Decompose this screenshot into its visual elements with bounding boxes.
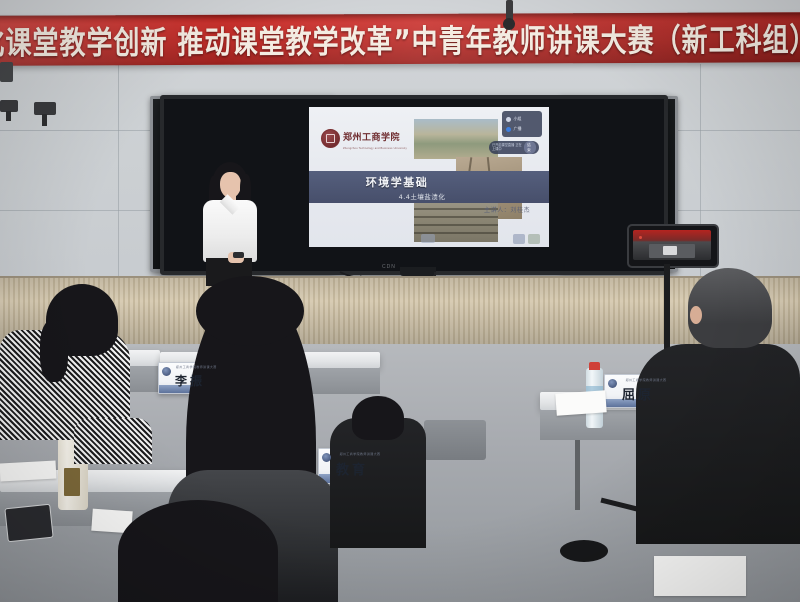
- slide-subtitle: 4.4土壤盐渍化: [367, 191, 477, 201]
- audience-hair: [118, 500, 278, 602]
- presenter-label: 主讲人：: [484, 207, 510, 214]
- bottle-cap: [589, 362, 600, 370]
- broadcast-label: 广播: [514, 126, 522, 132]
- school-seal-icon: [321, 129, 340, 148]
- audience-patterned-shoulder: [74, 418, 152, 464]
- school-name-en: Zhengzhou Technology and Business Univer…: [343, 147, 407, 150]
- group-icon: [506, 117, 511, 122]
- tumbler-label: [64, 468, 80, 496]
- audience-hair: [352, 396, 404, 440]
- wall-seam: [118, 64, 119, 276]
- paper-sheet: [0, 461, 56, 482]
- presenter-clicker: [233, 252, 244, 258]
- plate-name: 李振: [175, 372, 205, 389]
- tripod-foot: [560, 540, 608, 562]
- tripod-smartphone[interactable]: [627, 224, 719, 268]
- school-name-cn: 郑州工商学院: [343, 133, 400, 143]
- camera-mount: [6, 111, 11, 121]
- group-label: 小组: [514, 116, 522, 122]
- presenter-name: 刘桂杰: [510, 207, 530, 214]
- paper-stack: [555, 390, 606, 415]
- banner-hook-weight: [503, 18, 515, 30]
- phone-screen: [633, 230, 711, 260]
- banner-text: “深化课堂教学创新 推动课堂教学改革”中青年教师讲课大赛（新工科组）复赛: [0, 14, 800, 63]
- plate-seal-icon: [162, 367, 171, 376]
- slide-tool-exit[interactable]: [528, 234, 540, 244]
- chair[interactable]: [424, 420, 486, 460]
- smartphone-on-desk[interactable]: [4, 504, 53, 543]
- judge-jacket: [636, 344, 800, 544]
- classroom-photo: “深化课堂教学创新 推动课堂教学改革”中青年教师讲课大赛（新工科组）复赛 郑州工…: [0, 0, 800, 602]
- slide-presenter: 主讲人：刘桂杰: [484, 205, 530, 214]
- plate-heading: 郑州工商学院教师讲课大赛: [340, 452, 381, 456]
- live-status-text: 已开启课堂直播 正在上课中: [492, 144, 524, 151]
- judge-ear: [690, 306, 702, 324]
- slide-tool-zoom[interactable]: [513, 234, 525, 244]
- plate-heading: 郑州工商学院教师讲课大赛: [626, 378, 667, 382]
- paper-stack: [654, 556, 746, 596]
- slide-tool-pen[interactable]: [421, 234, 435, 243]
- wall-speaker-box: [0, 62, 13, 82]
- judge-hair: [688, 268, 772, 348]
- broadcast-icon: [506, 127, 511, 132]
- school-logo: 郑州工商学院 Zhengzhou Technology and Business…: [321, 127, 407, 150]
- conference-panel[interactable]: 小组 广播: [502, 111, 542, 137]
- slide-photo-saline-field: [414, 119, 498, 159]
- plate-seal-icon: [608, 379, 617, 388]
- camera-mount: [42, 114, 47, 126]
- slide-title: 环境学基础: [337, 174, 457, 190]
- audience-hair-fall: [40, 320, 68, 382]
- record-indicator-icon: [639, 236, 642, 239]
- live-status-pill[interactable]: 已开启课堂直播 正在上课中 结束: [489, 141, 539, 154]
- plate-name: 屈原: [622, 384, 654, 403]
- plate-name: 教育: [336, 459, 368, 478]
- end-broadcast-button[interactable]: 结束: [524, 141, 536, 154]
- presentation-slide: 郑州工商学院 Zhengzhou Technology and Business…: [309, 107, 549, 247]
- audience-hair-crown: [196, 276, 304, 346]
- desk-leg: [575, 440, 580, 510]
- plate-heading: 郑州工商学院教师讲课大赛: [176, 365, 217, 369]
- event-banner: “深化课堂教学创新 推动课堂教学改革”中青年教师讲课大赛（新工科组）复赛: [0, 12, 800, 66]
